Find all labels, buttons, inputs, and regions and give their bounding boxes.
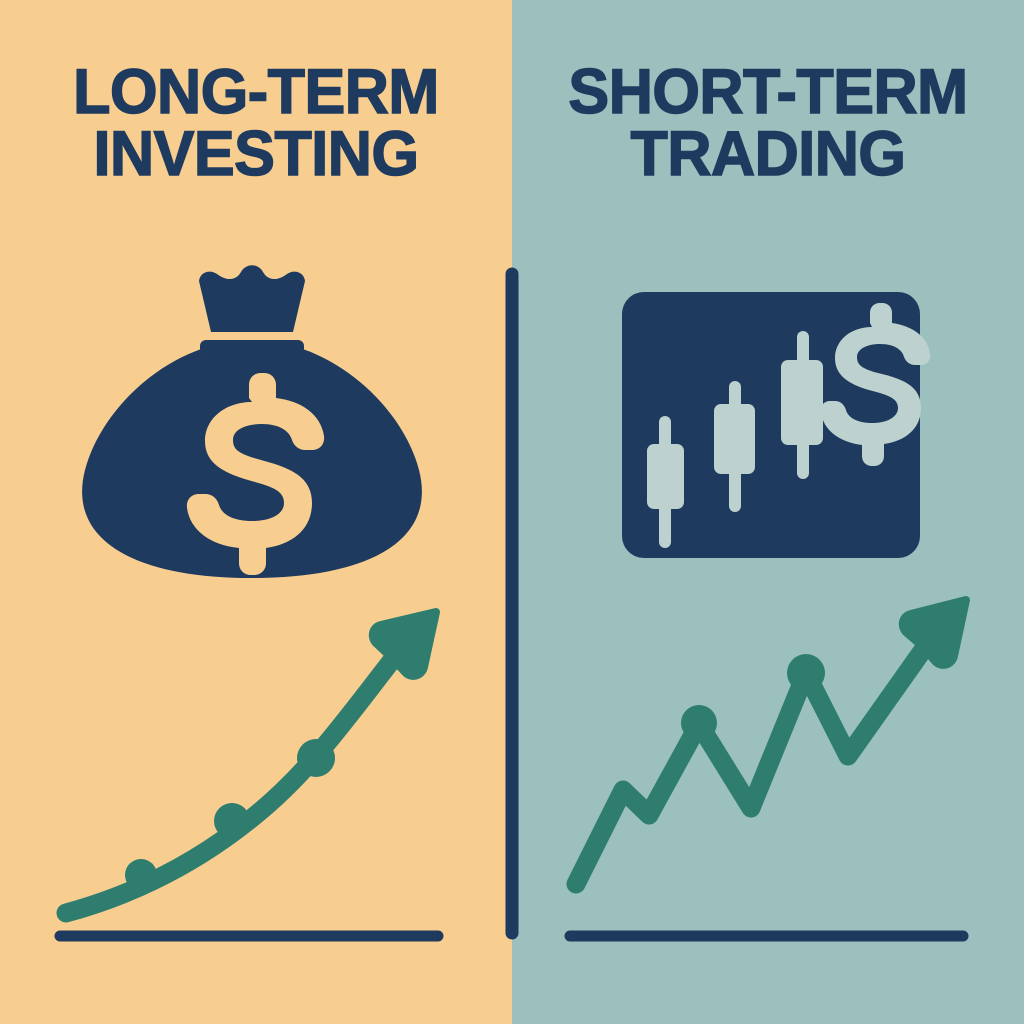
long-term-marker-2 — [214, 803, 250, 839]
short-term-marker-2 — [787, 654, 825, 692]
candlestick-chart-icon — [622, 292, 930, 558]
money-bag-band — [200, 340, 304, 361]
money-bag-neck — [199, 265, 305, 332]
long-term-marker-1 — [125, 859, 157, 891]
candlestick-2-body — [714, 404, 755, 474]
infographic-canvas — [0, 0, 1024, 1024]
candlestick-3-body — [781, 360, 823, 445]
long-term-marker-3 — [297, 739, 335, 777]
candlestick-1-body — [647, 444, 684, 509]
short-term-marker-1 — [681, 705, 717, 741]
infographic-root: LONG-TERM INVESTING SHORT-TERM TRADING — [0, 0, 1024, 1024]
